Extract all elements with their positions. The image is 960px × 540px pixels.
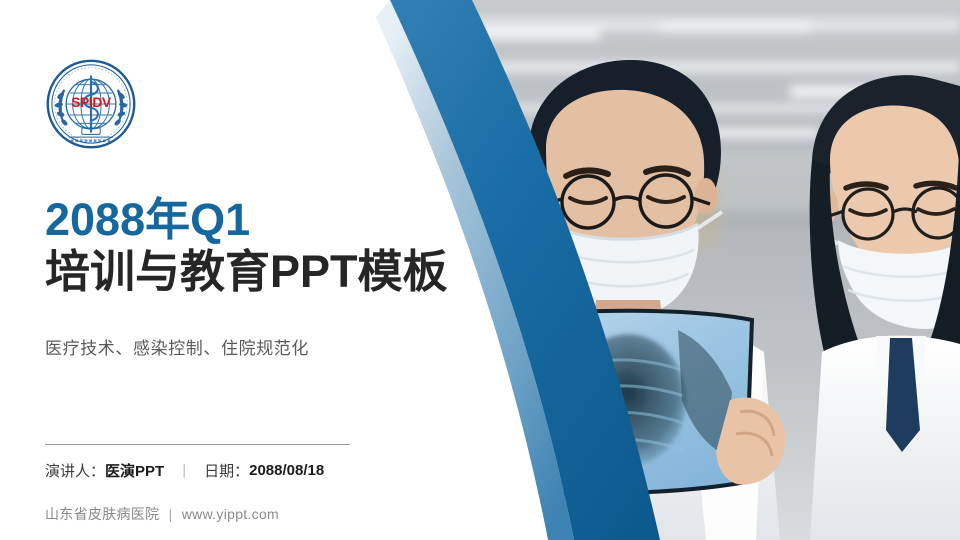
title-main: 培训与教育PPT模板 (45, 247, 505, 297)
title-content-column: SPIDV 2088年Q1 培训与教育PPT模板 医疗技术、感染控制、住院规范化 (0, 0, 520, 540)
spidv-emblem-icon: SPIDV (45, 58, 137, 150)
page-title: 2088年Q1 培训与教育PPT模板 (45, 196, 505, 297)
title-year-quarter: 2088年Q1 (45, 196, 505, 245)
presentation-title-slide: SPIDV 2088年Q1 培训与教育PPT模板 医疗技术、感染控制、住院规范化 (0, 0, 960, 540)
meta-divider (45, 444, 350, 445)
footer-separator: | (169, 506, 173, 522)
subtitle-text: 医疗技术、感染控制、住院规范化 (45, 334, 309, 359)
date-label: 日期： (204, 460, 249, 481)
footer-credit: 山东省皮肤病医院 | www.yippt.com (45, 504, 279, 524)
date-value: 2088/08/18 (249, 462, 324, 479)
presenter-label: 演讲人： (45, 460, 105, 481)
presenter-name: 医演PPT (105, 460, 164, 481)
hospital-logo: SPIDV (45, 58, 137, 150)
footer-website: www.yippt.com (182, 506, 279, 522)
svg-text:SPIDV: SPIDV (71, 95, 112, 110)
meta-separator: | (182, 462, 186, 479)
footer-organization: 山东省皮肤病医院 (45, 506, 159, 522)
presenter-meta: 演讲人： 医演PPT | 日期： 2088/08/18 (45, 460, 324, 481)
